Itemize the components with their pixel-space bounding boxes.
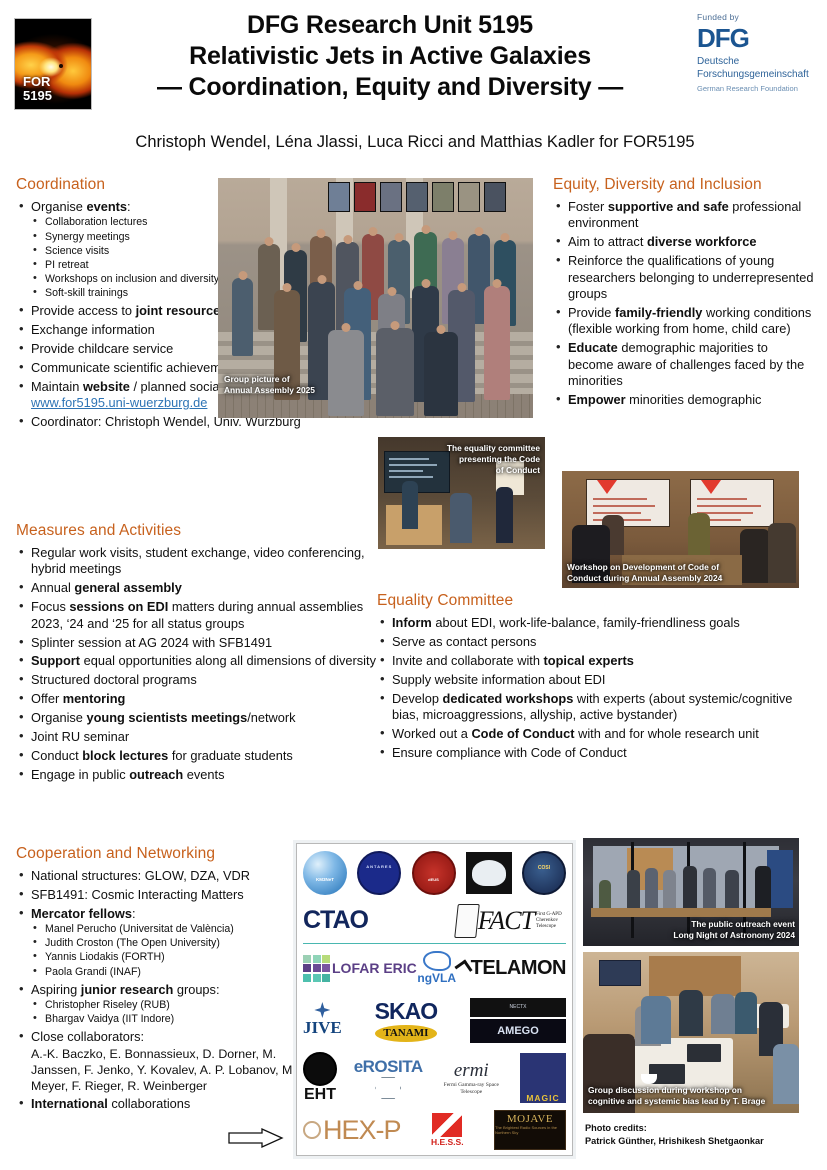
measures-item: Engage in public outreach events	[16, 767, 381, 783]
dfg-german-name: Deutsche Forschungsgemeinschaft	[697, 55, 819, 81]
logo-erosita: eROSITA	[354, 1057, 423, 1077]
logo-lofar-eric: LOFAR ERIC	[332, 961, 417, 976]
cooperation-item: Aspiring junior research groups:Christop…	[16, 982, 301, 1027]
measures-item: Conduct block lectures for graduate stud…	[16, 748, 381, 764]
fact-subtitle: First G-APD Cherenkov Telescope	[536, 912, 566, 930]
cooperation-item-text: National structures: GLOW, DZA, VDR	[31, 868, 250, 883]
hess-dishes-icon	[432, 1113, 462, 1137]
outreach-photo-caption: The public outreach event Long Night of …	[673, 919, 795, 941]
photo-equality-committee: The equality committee presenting the Co…	[378, 437, 545, 549]
cooperation-subitem: Judith Croston (The Open University)	[31, 937, 301, 951]
logo-magic: MAGIC	[520, 1053, 566, 1103]
cooperation-item-text: Close collaborators:	[31, 1029, 144, 1044]
measures-item: Regular work visits, student exchange, v…	[16, 545, 381, 578]
coordination-item-text: Organise events:	[31, 199, 131, 214]
eht-globe-icon	[303, 1052, 337, 1086]
measures-item-text: Support equal opportunities along all di…	[31, 653, 376, 668]
logo-row-4: JIVE SKAO TANAMI NECTX AMEGO	[303, 992, 566, 1048]
equality-committee-item-text: Inform about EDI, work-life-balance, fam…	[392, 615, 740, 630]
equality-committee-item-text: Supply website information about EDI	[392, 672, 605, 687]
erosita-mirror-icon	[375, 1077, 401, 1099]
coordination-item-text: Provide access to joint resources	[31, 303, 227, 318]
cooperation-subitem: Yannis Liodakis (FORTH)	[31, 951, 301, 965]
website-link[interactable]: www.for5195.uni-wuerzburg.de	[31, 395, 207, 410]
measures-item: Annual general assembly	[16, 580, 381, 596]
logo-deus: dEUS	[412, 851, 456, 895]
equality-committee-heading: Equality Committee	[377, 592, 820, 610]
logo-row-5: EHT eROSITA ermi Fermi Gamma-ray Space T…	[303, 1048, 566, 1108]
coordination-item-text: Exchange information	[31, 322, 155, 337]
measures-item: Splinter session at AG 2024 with SFB1491	[16, 635, 381, 651]
equality-photo-caption: The equality committee presenting the Co…	[447, 443, 540, 476]
measures-item-text: Regular work visits, student exchange, v…	[31, 545, 365, 576]
cooperation-subitem: Manel Perucho (Universitat de València)	[31, 923, 301, 937]
logo-telamon: TELAMON	[471, 957, 566, 980]
logo-row-6: HEX-P H.E.S.S. MOJAVE The Brightest Radi…	[303, 1108, 566, 1152]
measures-item-text: Engage in public outreach events	[31, 767, 225, 782]
photo-group-discussion-workshop: Group discussion during workshop on cogn…	[583, 952, 799, 1113]
cooperation-heading: Cooperation and Networking	[16, 845, 301, 863]
edi-item-text: Foster supportive and safe professional …	[568, 199, 801, 230]
edi-item-text: Empower minorities demographic	[568, 392, 761, 407]
edi-item: Reinforce the qualifications of young re…	[553, 253, 815, 302]
cooperation-list: National structures: GLOW, DZA, VDRSFB14…	[16, 868, 301, 1113]
photo-code-of-conduct-workshop: Workshop on Development of Code of Condu…	[562, 471, 799, 588]
logo-jive: JIVE	[303, 1018, 342, 1038]
title-line-3: — Coordination, Equity and Diversity —	[100, 72, 680, 103]
cooperation-item-text: SFB1491: Cosmic Interacting Matters	[31, 887, 244, 902]
measures-item: Focus sessions on EDI matters during ann…	[16, 599, 381, 632]
logo-icecube	[466, 852, 512, 894]
dfg-wordmark: DFG	[697, 23, 819, 53]
lofar-grid-icon	[303, 955, 330, 982]
edi-item-text: Educate demographic majorities to become…	[568, 340, 804, 388]
edi-list: Foster supportive and safe professional …	[553, 199, 815, 408]
measures-heading: Measures and Activities	[16, 522, 381, 540]
measures-list: Regular work visits, student exchange, v…	[16, 545, 381, 783]
equality-committee-item: Supply website information about EDI	[377, 672, 820, 688]
cooperation-subitem: Christopher Riseley (RUB)	[31, 999, 301, 1013]
logo-cosi: COSI	[522, 851, 566, 895]
edi-heading: Equity, Diversity and Inclusion	[553, 176, 815, 194]
photo-credits-label: Photo credits:	[585, 1122, 825, 1135]
fermi-subtitle: Fermi Gamma-ray Space Telescope	[439, 1082, 503, 1096]
edi-item: Aim to attract diverse workforce	[553, 234, 815, 250]
partner-logos-panel: KM3NeT ANTARES dEUS COSI CTAO FACT First…	[296, 843, 573, 1156]
logo-hex-p: HEX-P	[323, 1115, 401, 1146]
measures-item-text: Focus sessions on EDI matters during ann…	[31, 599, 363, 630]
measures-item: Organise young scientists meetings/netwo…	[16, 710, 381, 726]
logo-amego: AMEGO	[470, 1019, 566, 1043]
section-measures-and-activities: Measures and Activities Regular work vis…	[16, 522, 381, 786]
edi-item: Foster supportive and safe professional …	[553, 199, 815, 232]
measures-item-text: Offer mentoring	[31, 691, 125, 706]
measures-item: Support equal opportunities along all di…	[16, 653, 381, 669]
photo-long-night-of-astronomy: The public outreach event Long Night of …	[583, 838, 799, 946]
workshop-photo-caption: Workshop on Development of Code of Condu…	[567, 562, 722, 584]
logo-mojave: MOJAVE The Brightest Radio Sources in th…	[494, 1110, 566, 1150]
author-list: Christoph Wendel, Léna Jlassi, Luca Ricc…	[60, 133, 770, 152]
cooperation-sublist: Christopher Riseley (RUB)Bhargav Vaidya …	[31, 999, 301, 1027]
section-equity-diversity-inclusion: Equity, Diversity and Inclusion Foster s…	[553, 176, 815, 411]
equality-committee-item: Invite and collaborate with topical expe…	[377, 653, 820, 669]
edi-item-text: Aim to attract diverse workforce	[568, 234, 756, 249]
measures-item-text: Joint RU seminar	[31, 729, 129, 744]
equality-committee-list: Inform about EDI, work-life-balance, fam…	[377, 615, 820, 761]
photo-credits: Photo credits: Patrick Günther, Hrishike…	[585, 1122, 825, 1147]
logo-antares: ANTARES	[357, 851, 401, 895]
logo-fact: FACT	[478, 906, 534, 936]
measures-item: Offer mentoring	[16, 691, 381, 707]
logo-fermi: ermi	[454, 1060, 489, 1082]
photo-credits-names: Patrick Günther, Hrishikesh Shetgaonkar	[585, 1135, 825, 1148]
logo-row-2: CTAO FACT First G-APD Cherenkov Telescop…	[303, 898, 566, 944]
international-arrow-icon	[228, 1128, 284, 1148]
measures-item-text: Structured doctoral programs	[31, 672, 197, 687]
logo-skao: SKAO	[375, 998, 437, 1025]
equality-committee-item-text: Invite and collaborate with topical expe…	[392, 653, 634, 668]
logo-tanami: TANAMI	[375, 1025, 437, 1042]
section-cooperation-and-networking: Cooperation and Networking National stru…	[16, 845, 301, 1115]
logo-ctao: CTAO	[303, 906, 368, 935]
group-photo-caption: Group picture of Annual Assembly 2025	[224, 374, 315, 396]
edi-item-text: Provide family-friendly working conditio…	[568, 305, 811, 336]
dfg-english-name: German Research Foundation	[697, 84, 819, 93]
cooperation-sublist: Manel Perucho (Universitat de València)J…	[31, 923, 301, 979]
ngvla-swirl-icon	[423, 951, 451, 971]
pi-portrait-strip	[328, 182, 506, 212]
photo-annual-assembly-group: Group picture of Annual Assembly 2025	[218, 178, 533, 418]
edi-item: Empower minorities demographic	[553, 392, 815, 408]
dfg-funded-by-label: Funded by	[697, 12, 819, 22]
cooperation-item: Mercator fellows:Manel Perucho (Universi…	[16, 906, 301, 979]
measures-item-text: Conduct block lectures for graduate stud…	[31, 748, 293, 763]
equality-committee-item: Inform about EDI, work-life-balance, fam…	[377, 615, 820, 631]
coordination-item-text: Communicate scientific achievements	[31, 360, 245, 375]
edi-item: Educate demographic majorities to become…	[553, 340, 815, 389]
edi-item-text: Reinforce the qualifications of young re…	[568, 253, 813, 301]
poster-header: FOR 5195 DFG Research Unit 5195 Relativi…	[0, 0, 827, 168]
measures-item-text: Organise young scientists meetings/netwo…	[31, 710, 296, 725]
for5195-logo-label: FOR 5195	[23, 75, 52, 103]
dfg-funding-logo: Funded by DFG Deutsche Forschungsgemeins…	[697, 12, 819, 93]
equality-committee-item-text: Serve as contact persons	[392, 634, 536, 649]
title-line-2: Relativistic Jets in Active Galaxies	[100, 41, 680, 72]
fact-telescope-icon	[454, 904, 480, 938]
measures-item: Structured doctoral programs	[16, 672, 381, 688]
cooperation-subitem: Bhargav Vaidya (IIT Indore)	[31, 1013, 301, 1027]
logo-row-3: LOFAR ERIC ngVLA TELAMON	[303, 944, 566, 992]
logo-ngvla: ngVLA	[417, 971, 456, 985]
coordination-item-text: Provide childcare service	[31, 341, 173, 356]
equality-committee-item-text: Worked out a Code of Conduct with and fo…	[392, 726, 759, 741]
section-equality-committee: Equality Committee Inform about EDI, wor…	[377, 592, 820, 764]
cooperation-collaborator-names: A.-K. Baczko, E. Bonnassieux, D. Dorner,…	[31, 1046, 301, 1094]
jive-star-icon	[314, 1002, 330, 1018]
equality-committee-item-text: Develop dedicated workshops with experts…	[392, 691, 792, 722]
edi-item: Provide family-friendly working conditio…	[553, 305, 815, 338]
logo-eht: EHT	[304, 1086, 336, 1104]
logo-km3net: KM3NeT	[303, 851, 347, 895]
telamon-dish-icon	[454, 959, 472, 977]
logo-hess: H.E.S.S.	[431, 1137, 464, 1147]
cooperation-subitem: Paola Grandi (INAF)	[31, 966, 301, 980]
equality-committee-item: Worked out a Code of Conduct with and fo…	[377, 726, 820, 742]
cooperation-item: International collaborations	[16, 1096, 301, 1112]
cooperation-item: National structures: GLOW, DZA, VDR	[16, 868, 301, 884]
cooperation-item: Close collaborators:A.-K. Baczko, E. Bon…	[16, 1029, 301, 1093]
hexp-spiral-icon	[303, 1121, 321, 1139]
equality-committee-item-text: Ensure compliance with Code of Conduct	[392, 745, 627, 760]
title-line-1: DFG Research Unit 5195	[100, 10, 680, 41]
discussion-photo-caption: Group discussion during workshop on cogn…	[588, 1085, 765, 1107]
cooperation-item-text: Aspiring junior research groups:	[31, 982, 220, 997]
cooperation-item-text: International collaborations	[31, 1096, 190, 1111]
jet-core	[59, 64, 63, 68]
equality-committee-item: Develop dedicated workshops with experts…	[377, 691, 820, 724]
cooperation-item: SFB1491: Cosmic Interacting Matters	[16, 887, 301, 903]
logo-row-1: KM3NeT ANTARES dEUS COSI	[303, 848, 566, 898]
for5195-logo: FOR 5195	[14, 18, 92, 110]
equality-committee-item: Serve as contact persons	[377, 634, 820, 650]
measures-item-text: Splinter session at AG 2024 with SFB1491	[31, 635, 272, 650]
cooperation-item-text: Mercator fellows:	[31, 906, 136, 921]
logo-nectx: NECTX	[470, 998, 566, 1017]
poster-title: DFG Research Unit 5195 Relativistic Jets…	[100, 10, 680, 103]
equality-committee-item: Ensure compliance with Code of Conduct	[377, 745, 820, 761]
measures-item: Joint RU seminar	[16, 729, 381, 745]
measures-item-text: Annual general assembly	[31, 580, 182, 595]
